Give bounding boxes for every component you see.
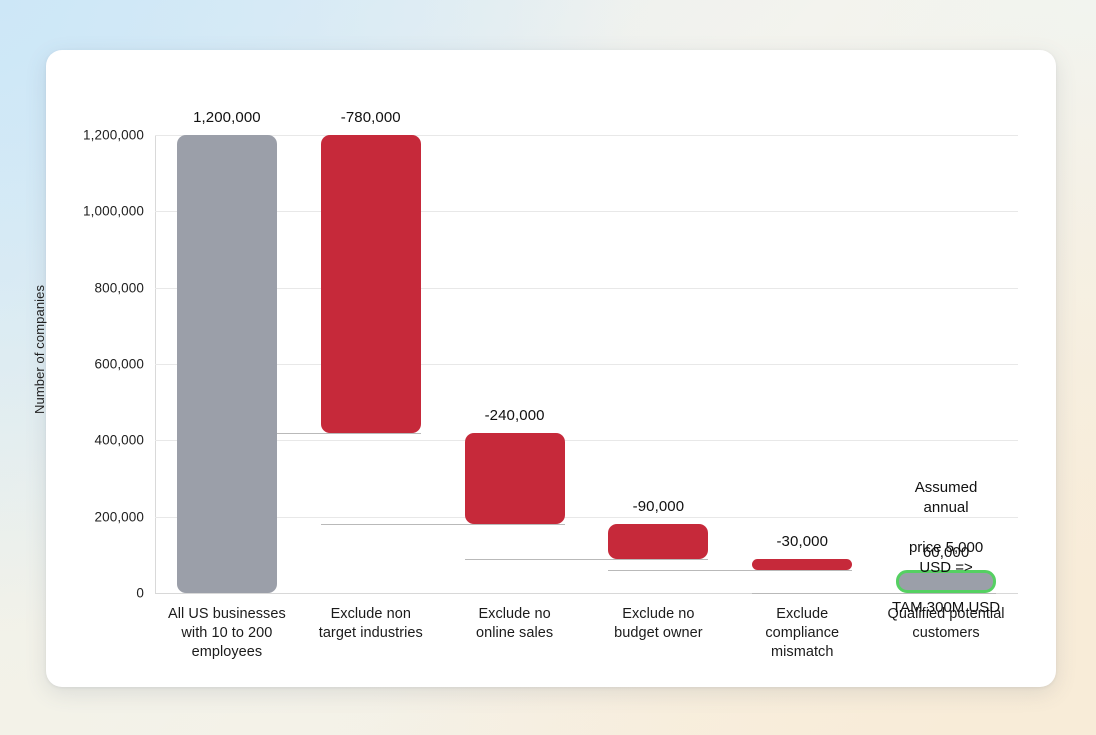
x-axis-tick-line: Exclude no [574,605,742,624]
x-axis-tick-line: budget owner [574,624,742,643]
x-axis-tick-line: compliance [718,624,886,643]
gridline [155,135,1018,136]
chart-card: Number of companies 0200,000400,000600,0… [46,50,1056,687]
bar-3[interactable] [465,433,565,525]
x-axis-tick-line: Exclude no [431,605,599,624]
waterfall-chart: Number of companies 0200,000400,000600,0… [46,50,1056,687]
x-axis-tick-line: online sales [431,624,599,643]
annotation-line-1: Assumed annual [891,478,1001,518]
x-axis-tick-line: target industries [287,624,455,643]
bar-2[interactable] [321,135,421,433]
gridline [155,288,1018,289]
x-axis-tick-label: Exclude noonline sales [431,605,599,643]
x-axis-tick-line: with 10 to 200 [143,624,311,643]
gridline [155,517,1018,518]
bar-5[interactable] [752,559,852,570]
gridline [155,211,1018,212]
bar-value-label: -240,000 [485,407,545,424]
y-axis-tick-label: 800,000 [46,280,154,295]
y-axis-tick-label: 1,000,000 [46,204,154,219]
y-axis-tick-label: 1,200,000 [46,128,154,143]
x-axis-tick-line: All US businesses [143,605,311,624]
bar-value-label: 1,200,000 [193,109,261,126]
x-axis-tick-label: Exclude nontarget industries [287,605,455,643]
bar-4[interactable] [608,524,708,558]
x-axis-tick-line: employees [143,643,311,662]
gridline [155,364,1018,365]
tam-annotation: Assumed annual price 5,000 USD => TAM 30… [891,458,1001,638]
annotation-line-2: price 5,000 USD => [891,538,1001,578]
x-axis-tick-line: Exclude [718,605,886,624]
connector-line [608,570,852,571]
bar-value-label: -90,000 [633,498,685,515]
connector-line [465,559,709,560]
connector-line [321,524,565,525]
y-axis-tick-label: 400,000 [46,433,154,448]
y-axis-tick-label: 200,000 [46,509,154,524]
bar-value-label: -30,000 [776,533,828,550]
y-axis-tick-label: 0 [46,586,154,601]
y-axis-title: Number of companies [32,285,47,414]
bar-1[interactable] [177,135,277,593]
gridline [155,440,1018,441]
x-axis-tick-label: Excludecompliancemismatch [718,605,886,662]
bar-value-label: -780,000 [341,109,401,126]
plot-area [155,135,1018,593]
x-axis-tick-label: Exclude nobudget owner [574,605,742,643]
x-axis-tick-label: All US businesseswith 10 to 200employees [143,605,311,662]
x-axis-tick-line: mismatch [718,643,886,662]
x-axis-tick-line: Exclude non [287,605,455,624]
y-axis-tick-label: 600,000 [46,357,154,372]
annotation-line-3: TAM 300M USD [891,598,1001,618]
